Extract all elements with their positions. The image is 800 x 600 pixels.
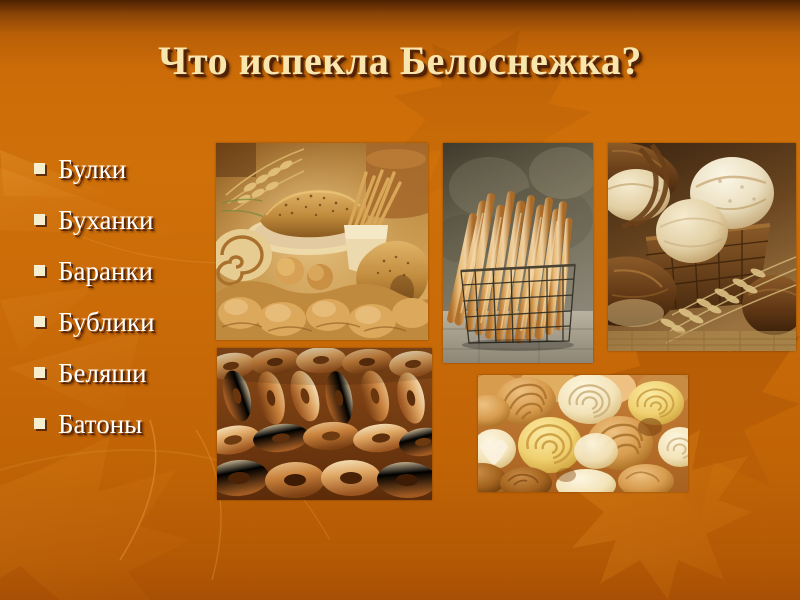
list-item-label: Бублики — [58, 307, 155, 337]
square-bullet-icon — [34, 367, 45, 378]
list-item-label: Булки — [58, 154, 126, 184]
list-item: Бублики — [34, 296, 224, 347]
square-bullet-icon — [34, 316, 45, 327]
list-item: Буханки — [34, 194, 224, 245]
bakery-items-list: Булки Буханки Баранки Бублики Беляши Бат… — [34, 143, 224, 449]
presentation-slide: Что испекла Белоснежка? Булки Буханки Ба… — [0, 0, 800, 600]
photo-bread-basket — [608, 143, 796, 351]
photo-breadsticks — [443, 143, 593, 363]
square-bullet-icon — [34, 418, 45, 429]
list-item-label: Буханки — [58, 205, 153, 235]
list-item-label: Беляши — [58, 358, 147, 388]
slide-title-container: Что испекла Белоснежка? — [0, 38, 800, 84]
photo-bagels — [217, 348, 432, 500]
list-item-label: Батоны — [58, 409, 142, 439]
page-title: Что испекла Белоснежка? — [158, 38, 642, 84]
square-bullet-icon — [34, 163, 45, 174]
square-bullet-icon — [34, 214, 45, 225]
list-item: Булки — [34, 143, 224, 194]
photo-bakery-spread — [216, 143, 428, 340]
photo-sweet-buns — [478, 375, 688, 492]
list-item: Батоны — [34, 398, 224, 449]
list-item-label: Баранки — [58, 256, 153, 286]
list-item: Баранки — [34, 245, 224, 296]
square-bullet-icon — [34, 265, 45, 276]
list-item: Беляши — [34, 347, 224, 398]
